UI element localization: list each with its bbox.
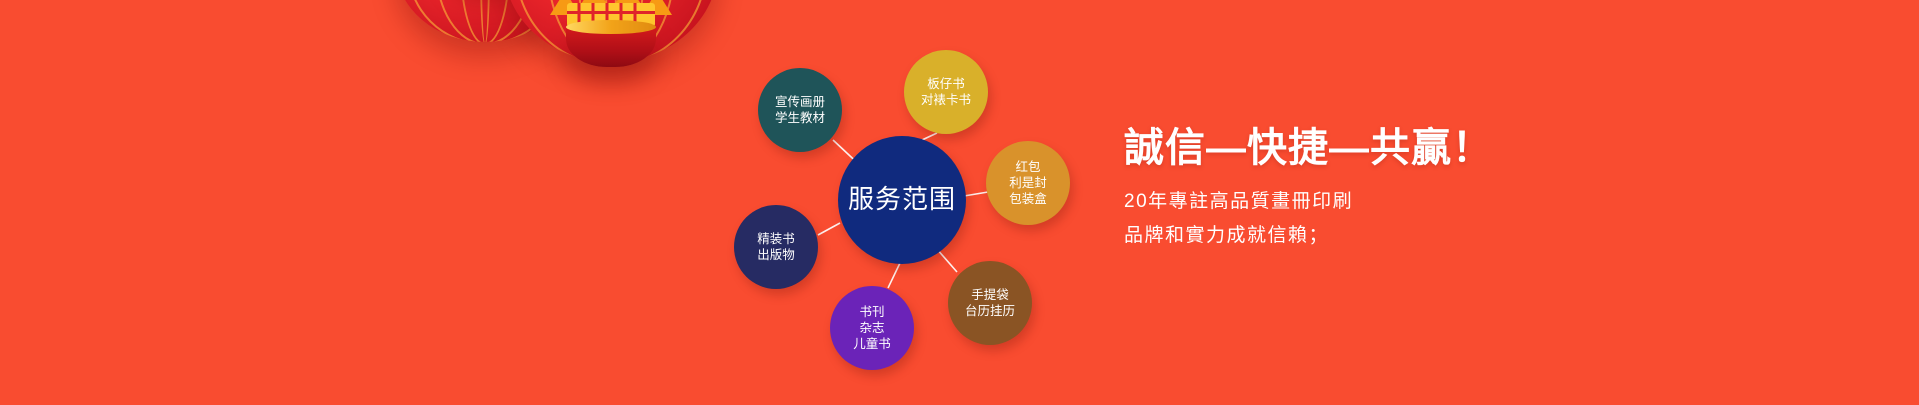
lantern-rib bbox=[547, 0, 675, 62]
bubble-hongbao[interactable]: 红包 利是封 包装盒 bbox=[986, 141, 1070, 225]
bubble-center-service-scope[interactable]: 服务范围 bbox=[838, 136, 966, 264]
bubble-jingzhuang-shu[interactable]: 精装书 出版物 bbox=[734, 205, 818, 289]
lantern-rib bbox=[435, 0, 535, 42]
bubble-line: 宣传画册 bbox=[775, 94, 825, 110]
bubble-banzai-shu[interactable]: 板仔书 对裱卡书 bbox=[904, 50, 988, 134]
bubble-line: 板仔书 bbox=[927, 76, 965, 92]
bubble-line: 手提袋 bbox=[971, 287, 1009, 303]
bubble-line: 精装书 bbox=[757, 231, 795, 247]
bubble-line: 学生教材 bbox=[775, 110, 825, 126]
lantern-rib bbox=[460, 0, 510, 42]
bubble-line: 红包 bbox=[1015, 159, 1040, 175]
lantern-rib bbox=[605, 0, 618, 62]
lantern-rib bbox=[407, 0, 564, 42]
bubble-shukan-zazhi[interactable]: 书刊 杂志 儿童书 bbox=[830, 286, 914, 370]
lantern-globe: 福 bbox=[396, 0, 574, 42]
lantern-crown-icon bbox=[541, 0, 681, 34]
bubble-line: 包装盒 bbox=[1009, 191, 1047, 207]
bubble-line: 出版物 bbox=[757, 247, 795, 263]
bubble-line: 儿童书 bbox=[853, 336, 891, 352]
slogan-block: 誠信—快捷—共贏！ 20年專註高品質畫冊印刷 品牌和實力成就信賴； bbox=[1124, 115, 1493, 247]
bubble-line: 利是封 bbox=[1009, 175, 1047, 191]
center-label: 服务范围 bbox=[848, 183, 956, 216]
bubble-line: 杂志 bbox=[859, 320, 884, 336]
slogan-subline-1: 20年專註高品質畫冊印刷 bbox=[1124, 186, 1493, 213]
bubble-line: 台历挂历 bbox=[965, 303, 1015, 319]
red-lantern-left: 福 bbox=[396, 0, 574, 42]
lantern-rib bbox=[515, 0, 708, 62]
bubble-line: 对裱卡书 bbox=[921, 92, 971, 108]
lantern-rib bbox=[480, 0, 491, 42]
lantern-cup bbox=[566, 27, 656, 67]
bubble-shoutidai[interactable]: 手提袋 台历挂历 bbox=[948, 261, 1032, 345]
promo-banner: 福 春 bbox=[0, 0, 1919, 405]
slogan-subline-2: 品牌和實力成就信賴； bbox=[1124, 220, 1493, 247]
slogan-title: 誠信—快捷—共贏！ bbox=[1124, 115, 1493, 173]
bubble-xuanchuan-huace[interactable]: 宣传画册 学生教材 bbox=[758, 68, 842, 152]
lantern-globe: 春 bbox=[504, 0, 718, 62]
red-lantern-right: 春 bbox=[504, 0, 718, 62]
bubble-line: 书刊 bbox=[859, 304, 884, 320]
lantern-rib bbox=[577, 0, 645, 62]
